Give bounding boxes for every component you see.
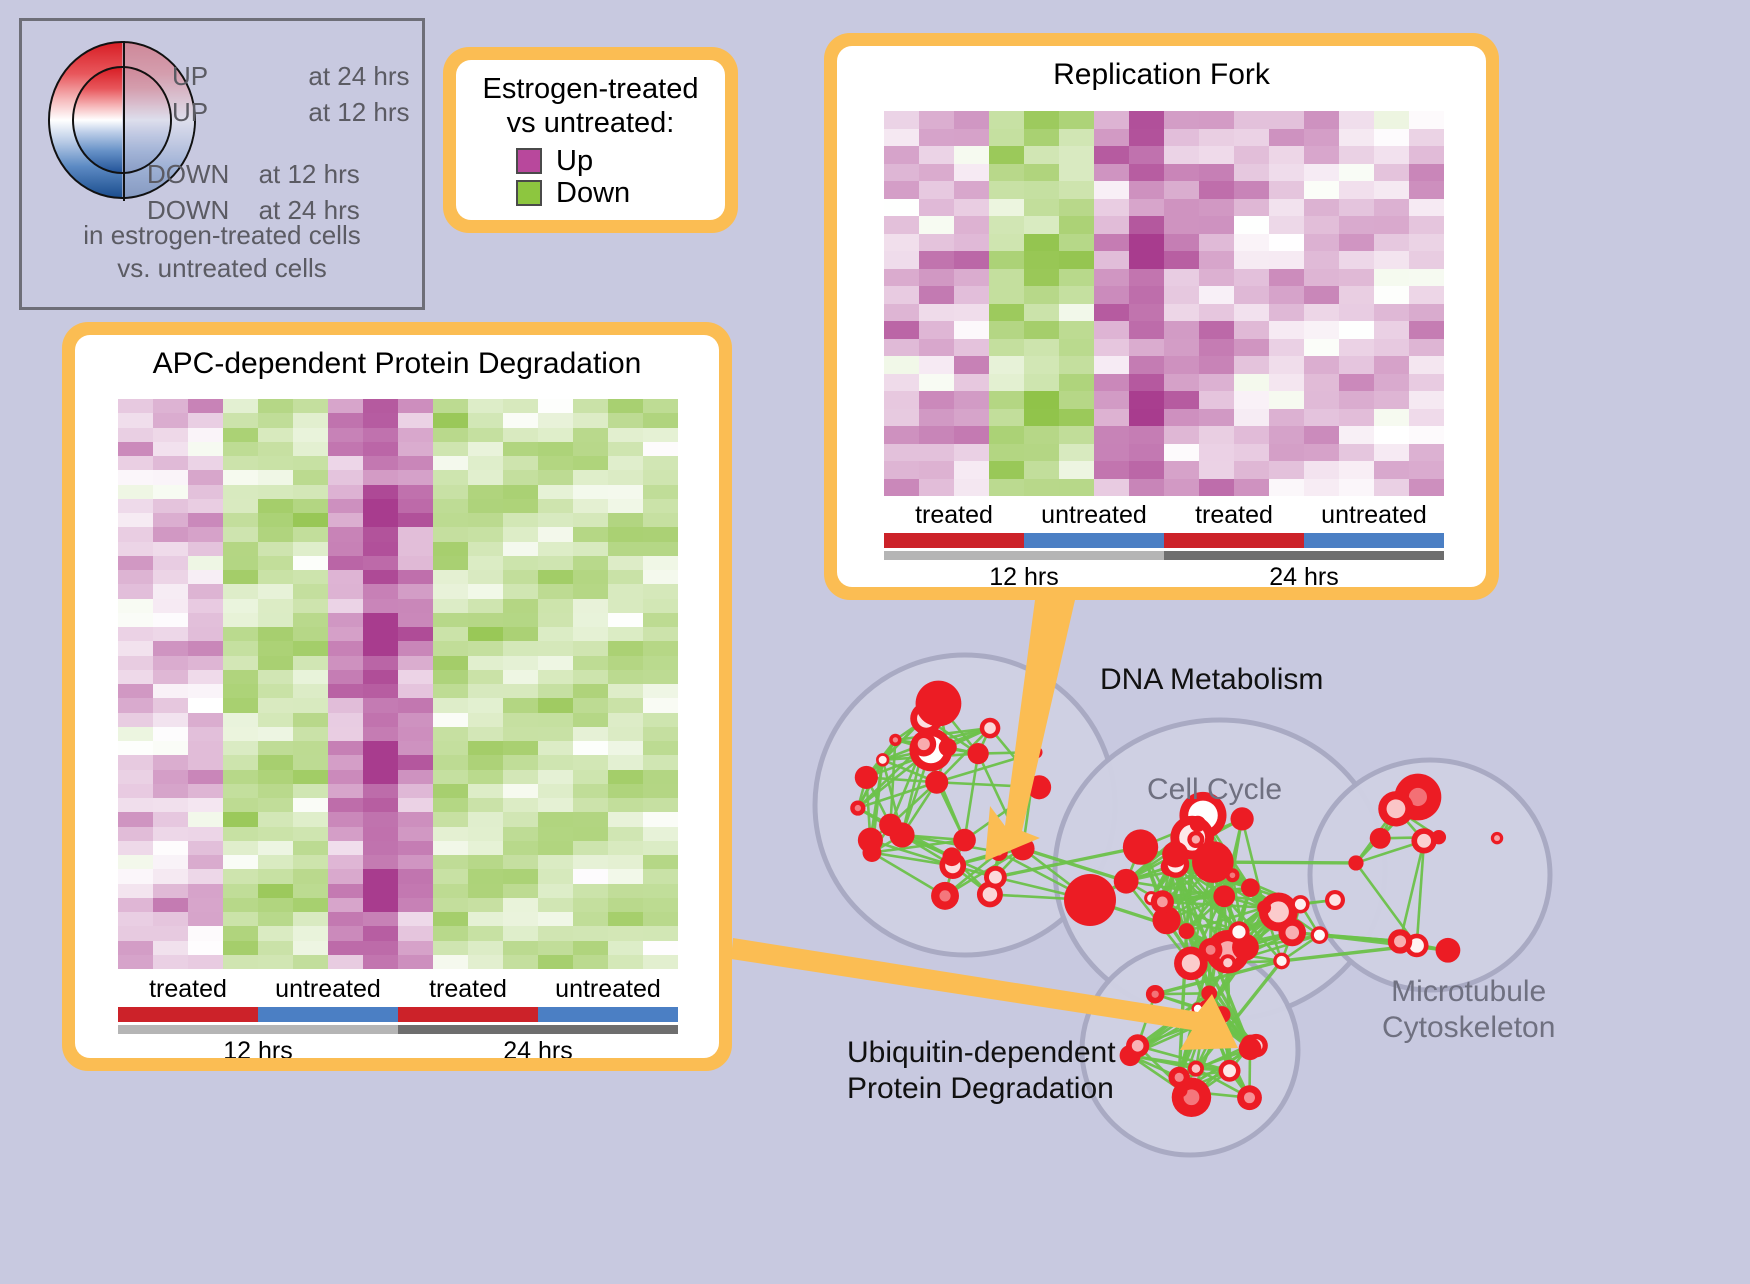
heatmap-cell [503, 741, 538, 755]
key-row-up-12: UP at 12 hrs [172, 99, 410, 125]
heatmap-cell [1234, 461, 1269, 479]
heatmap-cell [328, 656, 363, 670]
heatmap-cell [328, 428, 363, 442]
condition-label: treated [1164, 501, 1304, 530]
heatmap-cell [1269, 199, 1304, 217]
heatmap-cell [258, 513, 293, 527]
heatmap-cell [538, 770, 573, 784]
heatmap-cell [293, 855, 328, 869]
heatmap-cell [433, 499, 468, 513]
heatmap-cell [1304, 146, 1339, 164]
heatmap-cell [884, 479, 919, 497]
heatmap-cell [153, 898, 188, 912]
heatmap-cell [328, 855, 363, 869]
heatmap-cell [1199, 461, 1234, 479]
network-node-core [1276, 956, 1286, 966]
heatmap-cell [1269, 304, 1304, 322]
heatmap-cell [573, 855, 608, 869]
heatmap-cell [1024, 304, 1059, 322]
heatmap-cell [1234, 356, 1269, 374]
heatmap-cell [1199, 426, 1234, 444]
heatmap-cell [538, 413, 573, 427]
heatmap-cell [538, 698, 573, 712]
heatmap-cell [1374, 304, 1409, 322]
heatmap-cell [573, 456, 608, 470]
heatmap-cell [1164, 286, 1199, 304]
down-color-swatch [516, 180, 542, 206]
condition-label: untreated [538, 975, 678, 1004]
heatmap-cell [643, 556, 678, 570]
heatmap-cell [884, 461, 919, 479]
heatmap-cell [433, 627, 468, 641]
heatmap-cell [328, 527, 363, 541]
heatmap-cell [1234, 409, 1269, 427]
heatmap-cell [118, 556, 153, 570]
heatmap-cell [328, 470, 363, 484]
heatmap-cell [118, 798, 153, 812]
heatmap-cell [188, 713, 223, 727]
heatmap-cell [954, 461, 989, 479]
heatmap-cell [1164, 146, 1199, 164]
heatmap-cell [188, 912, 223, 926]
heatmap-cell [919, 304, 954, 322]
heatmap-cell [503, 485, 538, 499]
network-node-core [939, 890, 950, 901]
heatmap-cell [293, 812, 328, 826]
heatmap-cell [153, 656, 188, 670]
heatmap-cell [468, 499, 503, 513]
apc-degradation-inner: APC-dependent Protein Degradation treate… [75, 335, 719, 1058]
heatmap-cell [1234, 321, 1269, 339]
heatmap-cell [1059, 444, 1094, 462]
heatmap-cell [573, 827, 608, 841]
heatmap-cell [643, 926, 678, 940]
heatmap-cell [118, 684, 153, 698]
heatmap-cell [643, 428, 678, 442]
heatmap-cell [258, 627, 293, 641]
heatmap-cell [363, 670, 398, 684]
heatmap-cell [398, 912, 433, 926]
legend-items: Up Down [456, 146, 725, 208]
bar-untreated-24 [1304, 533, 1444, 548]
heatmap-cell [1374, 251, 1409, 269]
heatmap-cell [468, 584, 503, 598]
heatmap-cell [328, 570, 363, 584]
heatmap-cell [608, 428, 643, 442]
heatmap-cell [363, 584, 398, 598]
heatmap-cell [328, 798, 363, 812]
heatmap-cell [954, 286, 989, 304]
heatmap-cell [258, 912, 293, 926]
heatmap-cell [1129, 426, 1164, 444]
heatmap-cell [468, 485, 503, 499]
heatmap-cell [1094, 146, 1129, 164]
heatmap-cell [468, 869, 503, 883]
condition-color-bar [118, 1007, 678, 1022]
color-key-box: UP at 24 hrs UP at 12 hrs DOWN at 12 hrs… [19, 18, 425, 310]
key-row-up-24: UP at 24 hrs [172, 63, 410, 89]
heatmap-cell [153, 570, 188, 584]
condition-label: treated [398, 975, 538, 1004]
heatmap-cell [1304, 461, 1339, 479]
heatmap-cell [573, 627, 608, 641]
heatmap-cell [1269, 461, 1304, 479]
heatmap-cell [293, 428, 328, 442]
heatmap-cell [503, 869, 538, 883]
time-label: 12 hrs [884, 563, 1164, 587]
heatmap-cell [919, 339, 954, 357]
heatmap-cell [1059, 321, 1094, 339]
heatmap-cell [1339, 234, 1374, 252]
heatmap-cell [468, 527, 503, 541]
heatmap-cell [1024, 286, 1059, 304]
heatmap-cell [1094, 216, 1129, 234]
heatmap-cell [118, 827, 153, 841]
heatmap-cell [258, 599, 293, 613]
heatmap-cell [118, 755, 153, 769]
condition-label: untreated [1304, 501, 1444, 530]
heatmap-cell [153, 428, 188, 442]
heatmap-cell [573, 656, 608, 670]
heatmap-cell [1409, 216, 1444, 234]
heatmap-cell [989, 444, 1024, 462]
heatmap-cell [223, 884, 258, 898]
heatmap-cell [1164, 111, 1199, 129]
heatmap-grid [884, 111, 1444, 496]
heatmap-cell [188, 499, 223, 513]
network-node-core [879, 756, 887, 764]
heatmap-cell [293, 755, 328, 769]
heatmap-cell [363, 413, 398, 427]
heatmap-cell [503, 613, 538, 627]
heatmap-cell [503, 570, 538, 584]
heatmap-cell [363, 641, 398, 655]
heatmap-cell [1164, 479, 1199, 497]
network-node-core [983, 887, 998, 902]
heatmap-cell [118, 513, 153, 527]
condition-color-bar [884, 533, 1444, 548]
heatmap-cell [643, 527, 678, 541]
heatmap-cell [433, 855, 468, 869]
heatmap-cell [1234, 199, 1269, 217]
heatmap-cell [1059, 199, 1094, 217]
network-node [916, 681, 962, 727]
heatmap-cell [1409, 251, 1444, 269]
heatmap-cell [1094, 251, 1129, 269]
heatmap-cell [363, 442, 398, 456]
heatmap-cell [118, 670, 153, 684]
heatmap-cell [1059, 216, 1094, 234]
heatmap-cell [468, 656, 503, 670]
heatmap-cell [293, 485, 328, 499]
heatmap-cell [884, 251, 919, 269]
heatmap-cell [608, 812, 643, 826]
heatmap-cell [919, 426, 954, 444]
heatmap-cell [573, 442, 608, 456]
heatmap-cell [1234, 391, 1269, 409]
heatmap-cell [643, 613, 678, 627]
heatmap-cell [643, 599, 678, 613]
heatmap-cell [1024, 216, 1059, 234]
heatmap-cell [293, 584, 328, 598]
heatmap-cell [153, 399, 188, 413]
heatmap-cell [398, 698, 433, 712]
heatmap-cell [919, 269, 954, 287]
figure-canvas: UP at 24 hrs UP at 12 hrs DOWN at 12 hrs… [0, 0, 1750, 1279]
heatmap-cell [1234, 269, 1269, 287]
heatmap-cell [989, 339, 1024, 357]
heatmap-cell [328, 941, 363, 955]
heatmap-cell [153, 456, 188, 470]
heatmap-cell [1409, 181, 1444, 199]
heatmap-cell [153, 670, 188, 684]
heatmap-cell [223, 784, 258, 798]
heatmap-cell [433, 798, 468, 812]
heatmap-cell [1199, 269, 1234, 287]
heatmap-cell [1094, 409, 1129, 427]
heatmap-cell [153, 941, 188, 955]
network-node-core [989, 871, 1002, 884]
heatmap-cell [1234, 146, 1269, 164]
heatmap-cell [1409, 269, 1444, 287]
heatmap-cell [1024, 391, 1059, 409]
heatmap-cell [398, 670, 433, 684]
heatmap-cell [643, 499, 678, 513]
heatmap-cell [1129, 199, 1164, 217]
heatmap-cell [223, 812, 258, 826]
heatmap-cell [398, 556, 433, 570]
heatmap-cell [223, 755, 258, 769]
heatmap-cell [884, 199, 919, 217]
bar-untreated-24 [538, 1007, 678, 1022]
heatmap-cell [954, 164, 989, 182]
heatmap-cell [608, 941, 643, 955]
heatmap-cell [188, 656, 223, 670]
heatmap-cell [538, 470, 573, 484]
heatmap-cell [643, 841, 678, 855]
heatmap-cell [989, 269, 1024, 287]
heatmap-cell [398, 627, 433, 641]
heatmap-cell [919, 199, 954, 217]
heatmap-cell [1129, 409, 1164, 427]
time-color-bar [884, 551, 1444, 560]
heatmap-cell [223, 527, 258, 541]
heatmap-cell [1374, 374, 1409, 392]
heatmap-cell [643, 513, 678, 527]
heatmap-cell [573, 755, 608, 769]
heatmap-cell [398, 641, 433, 655]
heatmap-cell [1059, 409, 1094, 427]
heatmap-cell [433, 684, 468, 698]
heatmap-cell [1339, 164, 1374, 182]
heatmap-cell [1164, 164, 1199, 182]
heatmap-cell [1339, 409, 1374, 427]
bar-24hrs [1164, 551, 1444, 560]
heatmap-cell [153, 955, 188, 969]
heatmap-cell [398, 955, 433, 969]
heatmap-cell [1374, 129, 1409, 147]
network-node-core [1223, 1064, 1236, 1077]
legend-panel: Estrogen-treated vs untreated: Up Down [443, 47, 738, 233]
key-row-down-12: DOWN at 12 hrs [147, 161, 360, 187]
heatmap-cell [989, 251, 1024, 269]
heatmap-cell [573, 941, 608, 955]
heatmap-cell [153, 770, 188, 784]
heatmap-cell [363, 912, 398, 926]
heatmap-cell [1094, 444, 1129, 462]
heatmap-cell [538, 442, 573, 456]
network-node-core [1194, 1005, 1202, 1013]
heatmap-cell [1304, 391, 1339, 409]
heatmap-cell [503, 584, 538, 598]
heatmap-cell [954, 444, 989, 462]
heatmap-cell [118, 770, 153, 784]
heatmap-cell [573, 912, 608, 926]
heatmap-cell [188, 784, 223, 798]
heatmap-cell [188, 869, 223, 883]
heatmap-cell [223, 599, 258, 613]
heatmap-cell [468, 827, 503, 841]
heatmap-cell [1269, 146, 1304, 164]
heatmap-cell [363, 812, 398, 826]
heatmap-cell [1094, 286, 1129, 304]
heatmap-cell [1339, 111, 1374, 129]
heatmap-cell [538, 898, 573, 912]
heatmap-cell [989, 461, 1024, 479]
heatmap-cell [608, 599, 643, 613]
heatmap-cell [1409, 111, 1444, 129]
heatmap-cell [1024, 234, 1059, 252]
heatmap-cell [573, 599, 608, 613]
heatmap-cell [328, 841, 363, 855]
heatmap-cell [503, 527, 538, 541]
key-time: at 12 hrs [259, 161, 360, 187]
heatmap-cell [223, 670, 258, 684]
heatmap-cell [188, 770, 223, 784]
heatmap-cell [643, 684, 678, 698]
heatmap-cell [1129, 216, 1164, 234]
heatmap-cell [643, 755, 678, 769]
heatmap-cell [328, 698, 363, 712]
heatmap-cell [989, 129, 1024, 147]
heatmap-cell [1409, 304, 1444, 322]
heatmap-cell [1304, 409, 1339, 427]
heatmap-cell [503, 855, 538, 869]
network-node-core [1192, 1064, 1201, 1073]
heatmap-cell [433, 755, 468, 769]
heatmap-cell [608, 413, 643, 427]
heatmap-cell [293, 613, 328, 627]
heatmap-cell [538, 399, 573, 413]
heatmap-cell [363, 556, 398, 570]
heatmap-cell [608, 912, 643, 926]
heatmap-cell [398, 827, 433, 841]
heatmap-cell [188, 827, 223, 841]
heatmap-cell [153, 442, 188, 456]
heatmap-cell [258, 413, 293, 427]
heatmap-cell [1059, 461, 1094, 479]
heatmap-cell [1059, 269, 1094, 287]
heatmap-cell [433, 513, 468, 527]
heatmap-cell [538, 527, 573, 541]
heatmap-cell [954, 426, 989, 444]
heatmap-cell [503, 841, 538, 855]
heatmap-cell [573, 570, 608, 584]
heatmap-cell [538, 827, 573, 841]
heatmap-cell [954, 304, 989, 322]
heatmap-cell [363, 855, 398, 869]
heatmap-cell [1339, 339, 1374, 357]
heatmap-cell [188, 684, 223, 698]
heatmap-cell [153, 513, 188, 527]
heatmap-cell [573, 399, 608, 413]
heatmap-cell [1234, 234, 1269, 252]
heatmap-cell [1094, 269, 1129, 287]
heatmap-cell [1164, 199, 1199, 217]
heatmap-cell [643, 741, 678, 755]
heatmap-cell [223, 542, 258, 556]
heatmap-cell [258, 399, 293, 413]
heatmap-cell [118, 413, 153, 427]
heatmap-cell [1199, 234, 1234, 252]
heatmap-cell [1304, 129, 1339, 147]
heatmap-cell [363, 955, 398, 969]
heatmap-cell [1374, 216, 1409, 234]
heatmap-cell [153, 869, 188, 883]
heatmap-cell [608, 898, 643, 912]
heatmap-cell [884, 216, 919, 234]
heatmap-cell [398, 428, 433, 442]
heatmap-cell [398, 513, 433, 527]
heatmap-cell [1269, 444, 1304, 462]
heatmap-cell [363, 926, 398, 940]
heatmap-cell [608, 542, 643, 556]
heatmap-cell [188, 513, 223, 527]
heatmap-cell [398, 499, 433, 513]
heatmap-cell [433, 442, 468, 456]
heatmap-cell [468, 884, 503, 898]
heatmap-cell [1304, 479, 1339, 497]
heatmap-cell [643, 727, 678, 741]
heatmap-cell [1374, 356, 1409, 374]
replication-fork-panel: Replication Fork treated untreated treat… [824, 33, 1499, 600]
heatmap-cell [328, 713, 363, 727]
heatmap-cell [1059, 426, 1094, 444]
heatmap-cell [223, 556, 258, 570]
legend-item-label: Down [556, 178, 630, 208]
heatmap-cell [188, 926, 223, 940]
heatmap-cell [573, 713, 608, 727]
heatmap-cell [363, 470, 398, 484]
heatmap-cell [258, 926, 293, 940]
network-node [862, 843, 881, 862]
heatmap-cell [884, 339, 919, 357]
page-title: Replication Fork [837, 58, 1486, 92]
bar-untreated-12 [1024, 533, 1164, 548]
heatmap-cell [1129, 321, 1164, 339]
heatmap-cell [1339, 216, 1374, 234]
heatmap-cell [608, 884, 643, 898]
heatmap-cell [328, 827, 363, 841]
heatmap-cell [954, 111, 989, 129]
key-time: at 12 hrs [308, 99, 409, 125]
heatmap-cell [1374, 321, 1409, 339]
heatmap-cell [293, 513, 328, 527]
heatmap-cell [118, 570, 153, 584]
heatmap-cell [258, 428, 293, 442]
heatmap-cell [503, 656, 538, 670]
heatmap-cell [258, 884, 293, 898]
